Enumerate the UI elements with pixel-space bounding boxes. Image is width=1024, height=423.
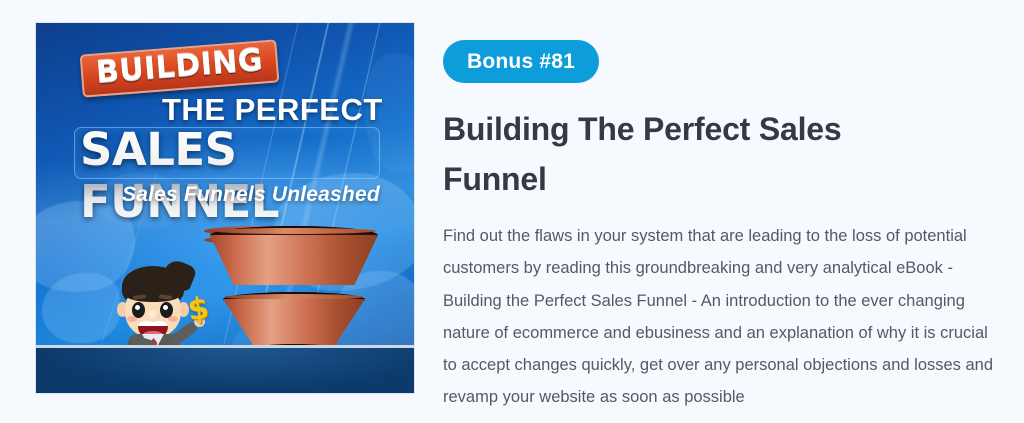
character-cheek-blush — [168, 316, 178, 322]
dollar-sign-icon: $ — [186, 294, 211, 327]
ebook-cover-image[interactable]: $ $ $ $ $ BUILDING THE PERFECT SALES FUN… — [35, 22, 415, 394]
cover-banner-building: BUILDING — [80, 39, 280, 97]
funnel-tier-1 — [210, 235, 378, 285]
cover-banner-text: BUILDING — [95, 45, 264, 89]
cover-bottom-bar — [36, 345, 414, 393]
cover-artwork: $ $ $ $ $ BUILDING THE PERFECT SALES FUN… — [36, 23, 414, 393]
world-map-silhouette — [42, 273, 120, 343]
bonus-description: Find out the flaws in your system that a… — [443, 220, 995, 413]
character-nose — [147, 310, 160, 322]
bonus-details: Bonus #81 Building The Perfect Sales Fun… — [443, 40, 998, 413]
bonus-title: Building The Perfect Sales Funnel — [443, 105, 893, 204]
cover-tagline: Sales Funnels Unleashed — [122, 183, 380, 207]
bonus-number-badge: Bonus #81 — [443, 40, 599, 83]
funnel-tier-2 — [223, 299, 365, 347]
cover-title-sales-funnel: SALES FUNNEL — [80, 124, 414, 228]
bonus-product-card: $ $ $ $ $ BUILDING THE PERFECT SALES FUN… — [0, 0, 1024, 423]
character-cheek-blush — [127, 316, 137, 322]
